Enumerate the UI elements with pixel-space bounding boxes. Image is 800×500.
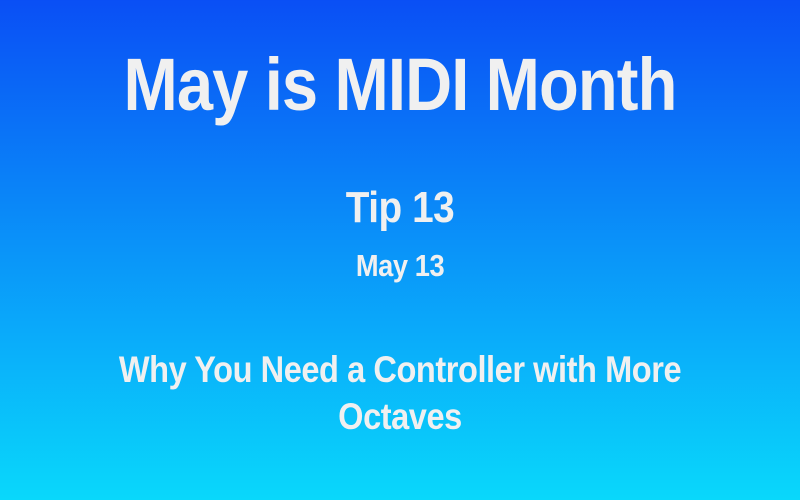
tip-date-label: May 13 (48, 250, 752, 281)
tip-number-label: Tip 13 (48, 186, 752, 230)
tip-subject-heading: Why You Need a Controller with More Octa… (48, 346, 752, 441)
page-title: May is MIDI Month (48, 48, 752, 122)
text-stack: May is MIDI Month Tip 13 May 13 Why You … (0, 0, 800, 500)
title-card-slide: May is MIDI Month Tip 13 May 13 Why You … (0, 0, 800, 500)
